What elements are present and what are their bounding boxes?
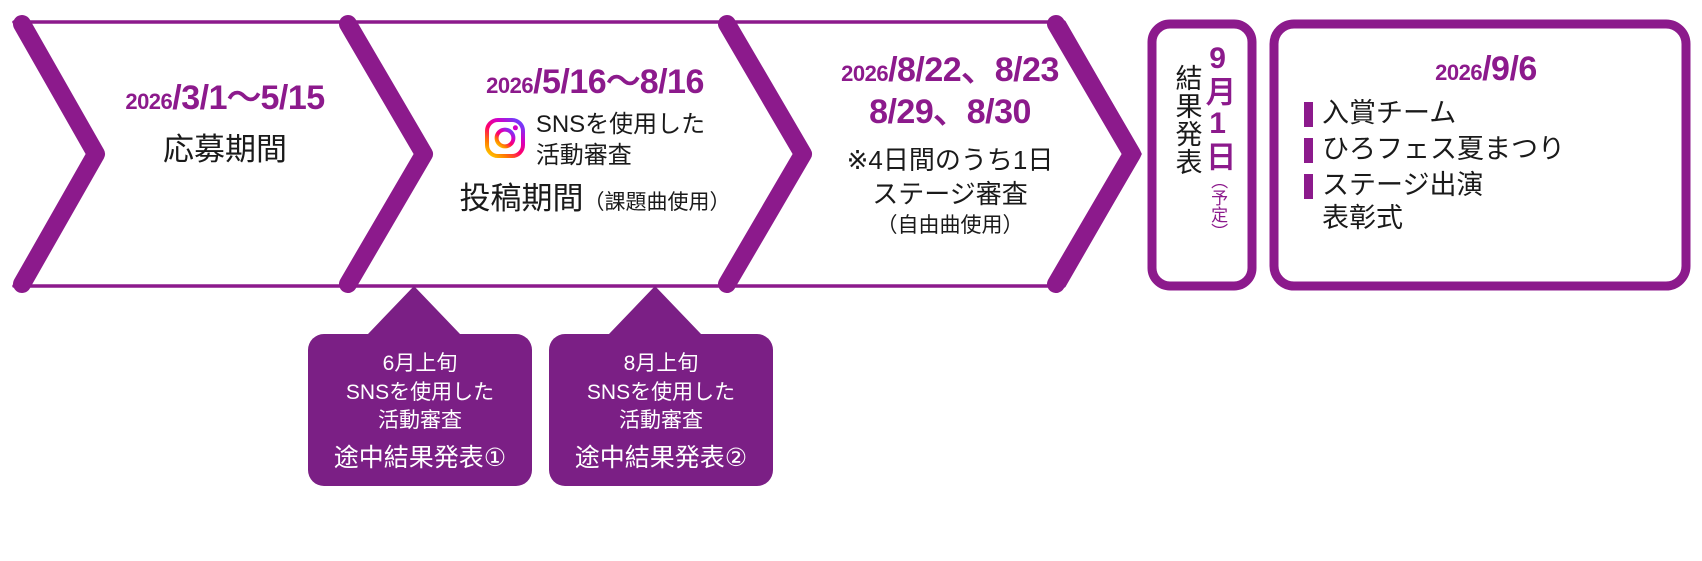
award-day-date: 2026/9/6 <box>1304 50 1668 89</box>
award-day-box: 2026/9/6 入賞チーム ひろフェス夏まつり ステージ出演 表彰式 <box>1274 24 1686 286</box>
step-posting-sns-row: SNSを使用した 活動審査 <box>420 110 770 171</box>
bullet-icon <box>1304 174 1313 199</box>
result-announcement-box: 9月1日（予定） 結果発表 <box>1152 24 1252 286</box>
step-application: 2026/3/1〜5/15 応募期間 <box>60 78 390 169</box>
step-application-label: 応募期間 <box>60 132 390 169</box>
instagram-icon <box>485 118 525 164</box>
result-announcement-date: 9月1日（予定） <box>1201 42 1232 240</box>
step-posting-sns-lines: SNSを使用した 活動審査 <box>536 110 705 171</box>
bullet-icon <box>1304 102 1313 127</box>
step-posting-year: 2026 <box>486 73 533 98</box>
award-item-3: ステージ出演 表彰式 <box>1304 169 1668 235</box>
interim-result-2-line-3: 活動審査 <box>563 407 759 436</box>
step-posting-main: 投稿期間（課題曲使用） <box>420 181 770 218</box>
award-item-2-label: ひろフェス夏まつり <box>1322 133 1565 166</box>
bullet-icon <box>1304 138 1313 163</box>
step-stage-year: 2026 <box>841 61 888 86</box>
step-application-year: 2026 <box>125 89 172 114</box>
step-posting: 2026/5/16〜8/16 <box>420 62 770 217</box>
step-posting-main-label: 投稿期間 <box>460 181 584 216</box>
interim-result-1-line-2: SNSを使用した <box>322 379 518 408</box>
award-day-range: /9/6 <box>1482 50 1537 88</box>
award-item-1: 入賞チーム <box>1304 97 1668 130</box>
step-stage-range-1: /8/22、8/23 <box>888 51 1059 89</box>
step-stage-range-2: 8/29、8/30 <box>869 93 1031 131</box>
result-announcement-label: 結果発表 <box>1172 64 1200 176</box>
result-announcement-date-text: 9月1日 <box>1201 42 1234 172</box>
step-stage: 2026/8/22、8/23 8/29、8/30 ※4日間のうち1日 ステージ審… <box>790 50 1110 239</box>
interim-result-1-line-3: 活動審査 <box>322 407 518 436</box>
interim-result-2-line-1: 8月上旬 <box>563 350 759 379</box>
step-stage-date-1: 2026/8/22、8/23 <box>790 50 1110 90</box>
interim-result-2-final: 途中結果発表② <box>563 440 759 476</box>
step-stage-date-2: 8/29、8/30 <box>790 92 1110 132</box>
step-posting-main-note: （課題曲使用） <box>584 191 731 214</box>
interim-result-2-line-2: SNSを使用した <box>563 379 759 408</box>
interim-result-1-final: 途中結果発表① <box>322 440 518 476</box>
step-posting-sns-line-2: 活動審査 <box>536 141 705 172</box>
step-posting-date: 2026/5/16〜8/16 <box>420 62 770 102</box>
interim-result-2-callout: 8月上旬 SNSを使用した 活動審査 途中結果発表② <box>549 334 773 486</box>
interim-result-1-line-1: 6月上旬 <box>322 350 518 379</box>
award-day-year: 2026 <box>1435 60 1482 85</box>
step-posting-range: /5/16〜8/16 <box>533 63 704 101</box>
step-posting-sns-line-1: SNSを使用した <box>536 110 705 141</box>
step-stage-note: （自由曲使用） <box>790 212 1110 239</box>
step-stage-line-2: ステージ審査 <box>790 178 1110 212</box>
timeline-infographic: 2026/3/1〜5/15 応募期間 2026/5/16〜8/16 <box>0 0 1702 561</box>
result-announcement-date-note: （予定） <box>1208 172 1227 240</box>
award-item-3-label: ステージ出演 表彰式 <box>1322 169 1483 235</box>
interim-result-1-callout: 6月上旬 SNSを使用した 活動審査 途中結果発表① <box>308 334 532 486</box>
award-item-2: ひろフェス夏まつり <box>1304 133 1668 166</box>
award-item-1-label: 入賞チーム <box>1322 97 1456 130</box>
step-application-range: /3/1〜5/15 <box>172 79 324 117</box>
step-stage-line-1: ※4日間のうち1日 <box>790 144 1110 178</box>
step-application-date: 2026/3/1〜5/15 <box>60 78 390 118</box>
